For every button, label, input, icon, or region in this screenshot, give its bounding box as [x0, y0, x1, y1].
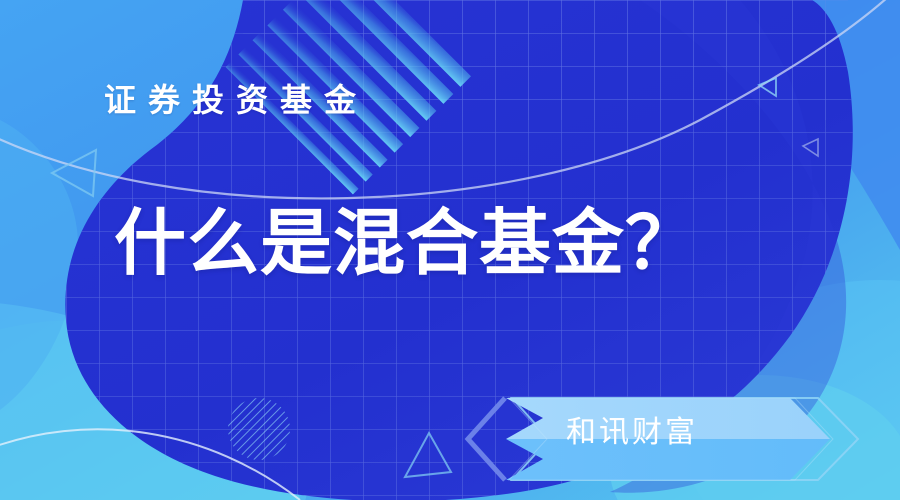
poster-kicker: 证券投资基金 — [104, 78, 368, 122]
poster-canvas: 证券投资基金 什么是混合基金？ 和讯财富 — [0, 0, 900, 500]
brand-banner-label: 和讯财富 — [566, 412, 776, 454]
poster-text-layer: 证券投资基金 什么是混合基金？ 和讯财富 — [0, 0, 900, 500]
poster-headline: 什么是混合基金？ — [114, 196, 698, 292]
